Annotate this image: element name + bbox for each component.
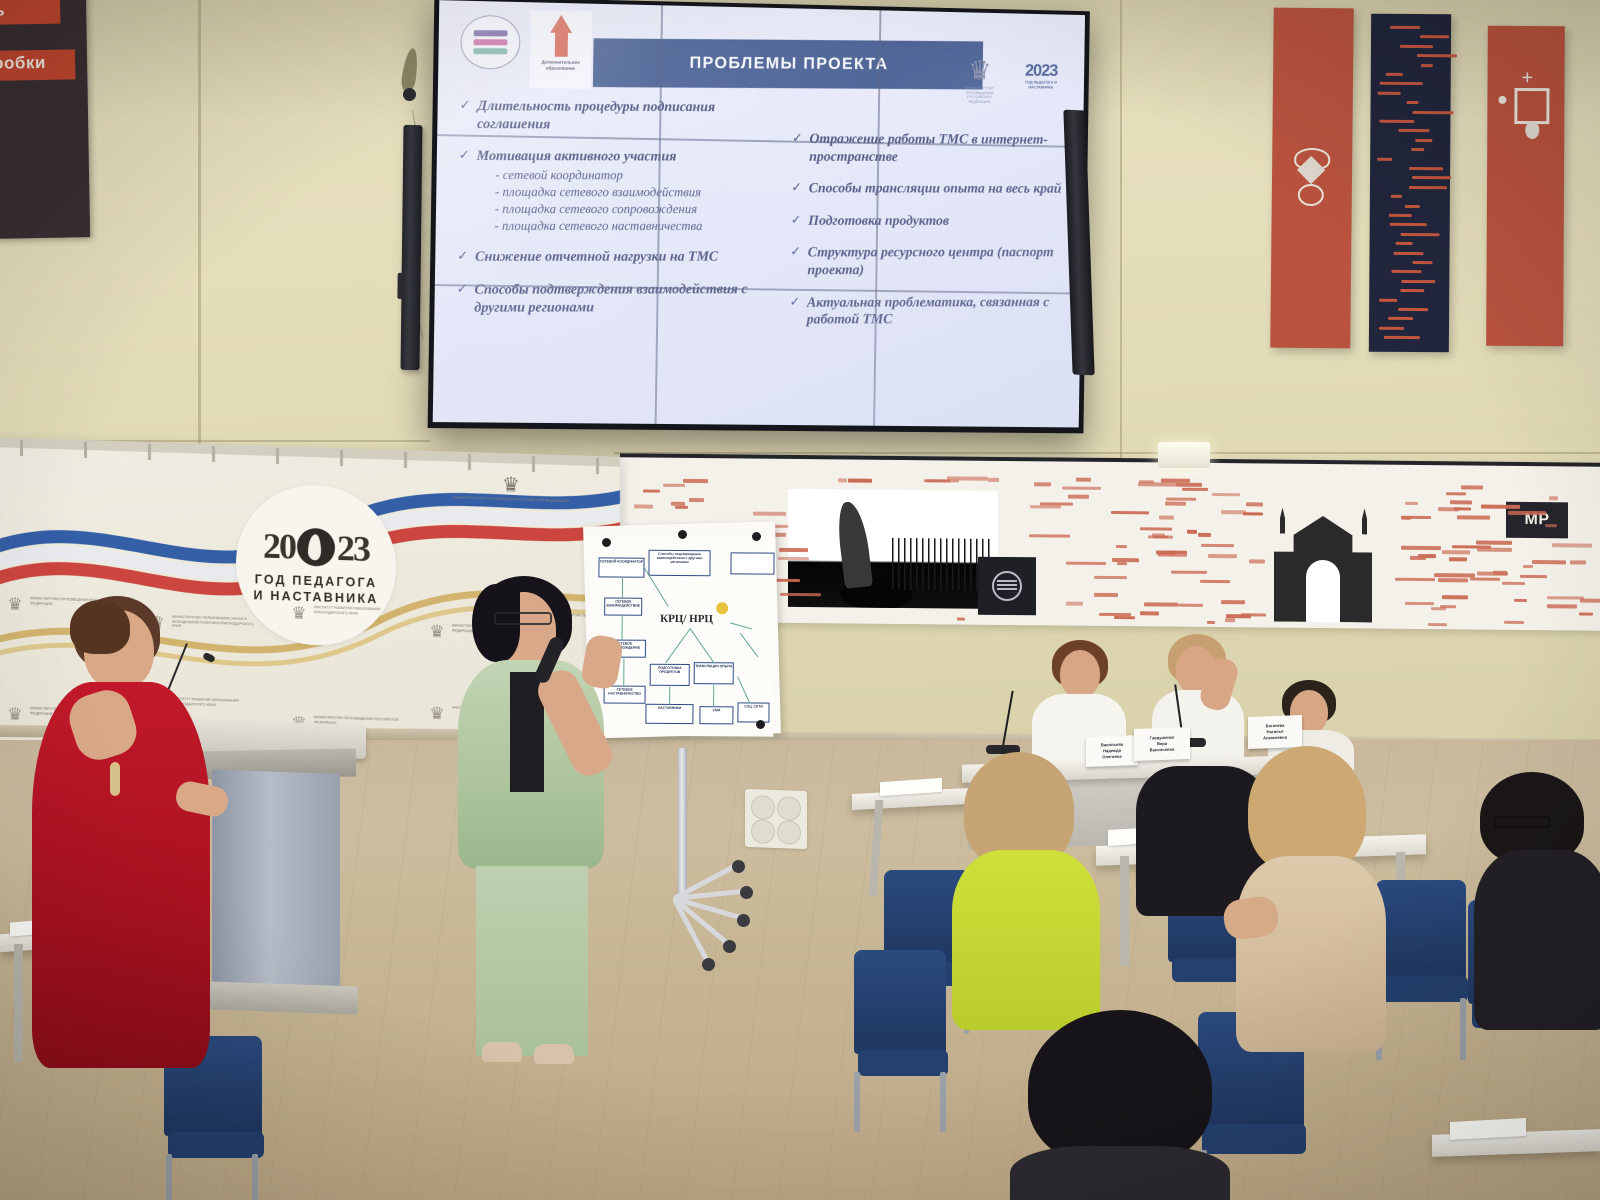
diagram-note: Способы подтверждения взаимодействия с д… bbox=[648, 550, 710, 576]
frieze-dash bbox=[1165, 502, 1186, 506]
panel-dash bbox=[1378, 327, 1403, 330]
panel-dash bbox=[1400, 233, 1440, 236]
frieze-dash bbox=[671, 502, 685, 506]
diagram-connector bbox=[740, 633, 759, 658]
diagram-note-label: Способы подтверждения взаимодействия с д… bbox=[649, 553, 709, 565]
frieze-dash bbox=[1481, 505, 1520, 509]
panel-dash bbox=[1379, 298, 1397, 301]
seal-icon: ♛ bbox=[426, 623, 448, 646]
wall-panel-cloud bbox=[1270, 8, 1354, 349]
frieze-dash bbox=[1178, 603, 1204, 607]
frieze-dash bbox=[1476, 541, 1513, 545]
frieze-dash bbox=[1450, 501, 1471, 505]
presentation-slide: Дополнительное образование ПРОБЛЕМЫ ПРОЕ… bbox=[433, 0, 1085, 427]
frieze-dash bbox=[689, 498, 704, 502]
diagram-box-label: НАСТАВНИКИ bbox=[646, 707, 692, 711]
wall-poster-top-left: ь ообки bbox=[0, 0, 90, 239]
slide-bullet-text: Способы трансляции опыта на весь край bbox=[809, 181, 1062, 199]
diagram-box: СЕТЕВОЙ КООРДИНАТОР bbox=[598, 557, 644, 577]
panel-dash bbox=[1389, 223, 1426, 226]
conference-room-scene: ь ообки + bbox=[0, 0, 1600, 1200]
slide-bullet: ✓Структура ресурсного центра (паспорт пр… bbox=[790, 245, 1080, 280]
frieze-dash bbox=[1442, 550, 1471, 554]
frieze-dash bbox=[1249, 559, 1265, 563]
panel-dash bbox=[1400, 45, 1433, 48]
frieze-dash bbox=[1477, 572, 1508, 576]
panel-dash bbox=[1409, 186, 1447, 189]
caster-wheel bbox=[740, 886, 753, 899]
panel-dash bbox=[1385, 73, 1402, 76]
diagram-connector bbox=[623, 658, 624, 686]
panel-dash bbox=[1412, 261, 1432, 264]
frieze-dash bbox=[988, 478, 999, 482]
panel-dash bbox=[1377, 157, 1392, 160]
frieze-dash bbox=[1470, 577, 1500, 581]
frieze-dash bbox=[1410, 556, 1425, 560]
slide-bullet-text: Подготовка продуктов bbox=[808, 213, 949, 230]
panel-dash bbox=[1421, 64, 1434, 67]
frieze-dash bbox=[1159, 516, 1174, 520]
emblem-year-right: 23 bbox=[337, 527, 369, 570]
slide-bullet-text: Структура ресурсного центра (паспорт про… bbox=[807, 245, 1079, 280]
table-leg bbox=[14, 944, 23, 1062]
frieze-dash bbox=[1461, 486, 1484, 490]
slide-subitem: площадка сетевого взаимодействия bbox=[495, 184, 703, 201]
flipchart-clip bbox=[602, 538, 611, 547]
frieze-dash bbox=[1449, 557, 1467, 561]
slide-subitem: площадка сетевого сопровождения bbox=[495, 201, 703, 218]
year-of-teacher-logo: 2023 ГОД ПЕДАГОГА И НАСТАВНИКА bbox=[1013, 61, 1069, 91]
podium bbox=[198, 719, 366, 1037]
wall-seam bbox=[1120, 0, 1122, 470]
panel-dash bbox=[1394, 251, 1424, 254]
wall-speaker-left bbox=[401, 125, 423, 370]
panel-dash bbox=[1409, 167, 1443, 170]
person-audience-right-dark bbox=[1474, 772, 1600, 1022]
year-number: 2023 bbox=[1013, 61, 1069, 81]
panel-dash bbox=[1396, 242, 1413, 245]
frieze-dash bbox=[1116, 545, 1127, 549]
frieze-dash bbox=[778, 556, 808, 560]
frieze-dash bbox=[1207, 620, 1216, 624]
frieze-dash bbox=[1504, 620, 1523, 624]
slide-bullet-text: Длительность процедуры подписания соглаш… bbox=[477, 98, 785, 134]
frieze-dash bbox=[753, 512, 786, 516]
frieze-dash bbox=[1431, 607, 1446, 611]
frieze-dash bbox=[1434, 573, 1475, 577]
frieze-dash bbox=[1208, 554, 1237, 558]
frieze-dash bbox=[780, 593, 821, 597]
frieze-dash bbox=[1212, 493, 1239, 497]
slide-bullet-text: Мотивация активного участия bbox=[477, 148, 704, 166]
panel-dash bbox=[1405, 205, 1420, 208]
panel-dash bbox=[1379, 82, 1423, 85]
slide-subitem: площадка сетевого наставничества bbox=[494, 217, 702, 234]
emblem-line1: ГОД ПЕДАГОГА bbox=[255, 572, 377, 590]
diagram-connector bbox=[737, 677, 750, 704]
frieze-dash bbox=[1401, 517, 1411, 521]
flipchart-clip bbox=[756, 720, 765, 729]
diagram-box-label: СМИ bbox=[700, 709, 732, 713]
frieze-dash bbox=[1201, 543, 1234, 547]
frieze-dash bbox=[1066, 561, 1106, 565]
wall-seam bbox=[198, 0, 201, 452]
checkmark-icon: ✓ bbox=[791, 213, 802, 228]
frieze-dash bbox=[1395, 577, 1435, 581]
plus-icon: + bbox=[1522, 68, 1534, 88]
frieze-dash bbox=[1066, 602, 1083, 606]
bridge-illustration bbox=[788, 489, 998, 609]
frieze-dash bbox=[1246, 502, 1263, 506]
emblem-year-left: 20 bbox=[263, 525, 295, 568]
frieze-dash bbox=[1187, 530, 1197, 534]
slide-bullet: ✓Подготовка продуктов bbox=[791, 213, 1080, 230]
panel-dash bbox=[1400, 289, 1424, 292]
flipchart-clip bbox=[752, 532, 761, 541]
panel-dash bbox=[1391, 270, 1421, 273]
panel-dash bbox=[1379, 120, 1414, 123]
eagle-icon: ♛ bbox=[451, 473, 571, 497]
frieze-dash bbox=[1114, 616, 1136, 620]
person-presenter-mint bbox=[458, 576, 608, 1006]
person-speaker-red bbox=[26, 596, 216, 1066]
frieze-dash bbox=[1442, 595, 1468, 599]
ministry-caption: МИНИСТЕРСТВО ПРОСВЕЩЕНИЯ РОССИЙСКОЙ ФЕДЕ… bbox=[957, 86, 1001, 105]
frieze-dash bbox=[1502, 581, 1524, 585]
poster-bar bbox=[0, 0, 60, 25]
slide-bullet: ✓Длительность процедуры подписания согла… bbox=[459, 98, 785, 134]
frieze-dash bbox=[957, 617, 965, 621]
ring-icon bbox=[1298, 184, 1324, 206]
chair[interactable] bbox=[854, 950, 952, 1120]
panel-dash bbox=[1398, 129, 1429, 132]
panel-dash bbox=[1401, 280, 1435, 283]
diagram-connector bbox=[622, 578, 623, 598]
pelican-icon bbox=[297, 528, 335, 567]
books-logo-icon bbox=[460, 15, 521, 69]
diagram-box-label: ПОДГОТОВКА ПРОДУКТОВ bbox=[651, 667, 689, 675]
frieze-dash bbox=[1034, 483, 1050, 487]
panel-dash bbox=[1406, 101, 1418, 104]
frieze-dash bbox=[634, 505, 653, 509]
frieze-dash bbox=[1401, 546, 1440, 550]
diagram-connector bbox=[665, 628, 690, 663]
checkmark-icon: ✓ bbox=[459, 148, 470, 163]
slide-right-column: ✓Отражение работы ТМС в интернет-простра… bbox=[789, 131, 1081, 344]
diagram-box: СОЦ. СЕТИ bbox=[737, 702, 769, 722]
panel-dash bbox=[1417, 54, 1457, 57]
diagram-highlight-dot bbox=[716, 602, 728, 614]
slide-bullet: ✓Снижение отчетной нагрузки на ТМС bbox=[457, 249, 783, 267]
frieze-dash bbox=[1158, 552, 1187, 556]
panel-dash bbox=[1389, 214, 1412, 217]
panel-dash bbox=[1412, 111, 1453, 114]
frieze-dash bbox=[1438, 508, 1459, 512]
diagram-box: ПОДГОТОВКА ПРОДУКТОВ bbox=[650, 664, 690, 686]
frieze-dash bbox=[779, 548, 808, 552]
frieze-dash bbox=[1579, 612, 1593, 616]
frieze-dash bbox=[1452, 545, 1491, 549]
frieze-dash bbox=[1523, 564, 1533, 568]
frieze-dash bbox=[1520, 575, 1546, 579]
frieze-dash bbox=[1532, 560, 1566, 564]
placard: Гавдушенко Вера Васильевна bbox=[1134, 727, 1190, 761]
diagram-box: СМИ bbox=[699, 706, 733, 724]
arch-illustration bbox=[1258, 489, 1388, 622]
caster-wheel bbox=[732, 860, 745, 873]
frieze-dash bbox=[1547, 596, 1584, 600]
frieze-dash bbox=[1198, 533, 1211, 537]
panel-dash bbox=[1420, 35, 1448, 38]
slide-subitem-list: сетевой координаторплощадка сетевого вза… bbox=[494, 167, 703, 234]
frieze-dash bbox=[675, 506, 688, 510]
flipchart-pole bbox=[678, 748, 687, 898]
frieze-dash bbox=[683, 479, 708, 483]
dot-icon bbox=[1498, 96, 1506, 104]
frieze-dash bbox=[643, 489, 660, 493]
diagram-box-label: СЕТЕВОЕ ВЗАИМОДЕЙСТВИЕ bbox=[605, 600, 641, 608]
contest-logo-icon: Дополнительное образование bbox=[529, 11, 592, 89]
frieze-dash bbox=[1225, 619, 1234, 623]
slide-bullet-text: Снижение отчетной нагрузки на ТМС bbox=[475, 249, 718, 267]
checkmark-icon: ✓ bbox=[459, 98, 470, 113]
video-wall-display[interactable]: Дополнительное образование ПРОБЛЕМЫ ПРОЕ… bbox=[428, 0, 1090, 433]
person-audience-beige bbox=[1230, 746, 1390, 1046]
seal-icon: ♛ bbox=[288, 604, 310, 627]
table-leg bbox=[1120, 856, 1129, 966]
frieze-dash bbox=[1428, 623, 1448, 627]
frieze-dash bbox=[1405, 502, 1419, 506]
frieze-dash bbox=[1117, 562, 1127, 566]
panel-dash bbox=[1390, 26, 1420, 29]
flipchart-diagram: КРЦ/ НРЦ СЕТЕВОЙ КООРДИНАТОРСЕТЕВОЕ ВЗАИ… bbox=[589, 535, 774, 736]
person-audience-green bbox=[952, 752, 1100, 1020]
diagram-connector bbox=[621, 616, 622, 640]
slide-subitem: сетевой координатор bbox=[495, 167, 703, 184]
poster-text-line1: ь bbox=[0, 1, 5, 21]
slide-bullet: ✓Отражение работы ТМС в интернет-простра… bbox=[792, 131, 1082, 166]
spear-wall-ornament bbox=[399, 48, 421, 114]
slide-bullet: ✓Мотивация активного участиясетевой коор… bbox=[458, 148, 785, 234]
banner-ministry-logo: ♛ МИНИСТЕРСТВО ПРОСВЕЩЕНИЯ РОССИЙСКОЙ ФЕ… bbox=[451, 473, 571, 504]
frieze-dash bbox=[1200, 579, 1231, 583]
checkmark-icon: ✓ bbox=[791, 181, 802, 196]
ceiling-light bbox=[1158, 442, 1210, 468]
frieze-dash bbox=[1166, 497, 1195, 501]
slide-title-bar: ПРОБЛЕМЫ ПРОЕКТА bbox=[593, 38, 983, 89]
slide-bullet: ✓Способы трансляции опыта на весь край bbox=[791, 181, 1080, 199]
diagram-box: ТРАНСЛЯЦИЯ ОПЫТА bbox=[694, 662, 734, 684]
flipchart: КРЦ/ НРЦ СЕТЕВОЙ КООРДИНАТОРСЕТЕВОЕ ВЗАИ… bbox=[586, 524, 778, 984]
slide-bullet-text: Отражение работы ТМС в интернет-простран… bbox=[809, 131, 1081, 166]
caster-wheel bbox=[723, 940, 736, 953]
panel-dash bbox=[1384, 336, 1420, 339]
frieze-dash bbox=[1140, 527, 1171, 531]
slide-bullet-text: Актуальная проблематика, связанная с раб… bbox=[807, 294, 1079, 329]
frieze-dash bbox=[1243, 512, 1263, 516]
panel-dash bbox=[1391, 195, 1402, 198]
placard: Богачева Наталья Алексеевна bbox=[1248, 715, 1302, 749]
frieze-dash bbox=[663, 483, 685, 487]
checkmark-icon: ✓ bbox=[789, 295, 800, 310]
panel-dash bbox=[1388, 317, 1413, 320]
diagram-box: СЕТЕВОЕ НАСТАВНИЧЕСТВО bbox=[604, 685, 646, 703]
frieze-dash bbox=[1570, 561, 1587, 565]
frieze-dash bbox=[1514, 598, 1528, 602]
panel-dash bbox=[1398, 308, 1428, 311]
frieze-dash bbox=[848, 479, 872, 483]
slide-left-column: ✓Длительность процедуры подписания согла… bbox=[456, 98, 785, 332]
frieze-dash bbox=[1068, 495, 1089, 499]
diagram-box: НАСТАВНИКИ bbox=[645, 704, 693, 724]
diagram-box-label: СЕТЕВОЙ КООРДИНАТОР bbox=[599, 560, 643, 564]
frieze-dash bbox=[1552, 543, 1593, 547]
frieze-dash bbox=[838, 479, 847, 483]
frieze-dash bbox=[1094, 593, 1118, 597]
diagram-box bbox=[730, 552, 774, 574]
diagram-connector bbox=[690, 628, 715, 663]
contest-logo-caption: Дополнительное образование bbox=[530, 60, 592, 72]
frieze-dash bbox=[1171, 570, 1207, 574]
ministry-eagle-icon: ♛ МИНИСТЕРСТВО ПРОСВЕЩЕНИЯ РОССИЙСКОЙ ФЕ… bbox=[957, 58, 1002, 105]
diagram-box-label: ТРАНСЛЯЦИЯ ОПЫТА bbox=[695, 665, 733, 669]
seal-caption: ИНСТИТУТ РАЗВИТИЯ ОБРАЗОВАНИЯ КРАСНОДАРС… bbox=[314, 605, 404, 617]
emblem-mark: 20 23 bbox=[263, 525, 369, 570]
checkmark-icon: ✓ bbox=[457, 249, 468, 264]
frieze-dash bbox=[1438, 578, 1468, 582]
frieze-dash bbox=[1221, 600, 1245, 604]
person-audience-front bbox=[1010, 1010, 1230, 1200]
panel-dash bbox=[1412, 148, 1424, 151]
frieze-dash bbox=[1148, 535, 1173, 539]
frieze-dash bbox=[1111, 511, 1149, 515]
diagram-connector bbox=[669, 687, 670, 705]
caster-wheel bbox=[702, 958, 715, 971]
flipchart-legs bbox=[604, 892, 764, 926]
slide-screen: Дополнительное образование ПРОБЛЕМЫ ПРОЕ… bbox=[433, 0, 1085, 427]
frieze-dash bbox=[1457, 516, 1490, 520]
checkmark-icon: ✓ bbox=[792, 131, 803, 146]
diagram-connector bbox=[730, 622, 752, 629]
diagram-box-label: СОЦ. СЕТИ bbox=[738, 705, 768, 709]
frieze-dash bbox=[1144, 603, 1178, 607]
frieze-dash bbox=[1508, 511, 1546, 515]
wall-panel-square: + bbox=[1486, 26, 1565, 346]
caster-wheel bbox=[737, 914, 750, 927]
panel-dash bbox=[1412, 176, 1451, 179]
frieze-dash bbox=[1138, 483, 1176, 487]
banner-seal: ♛ИНСТИТУТ РАЗВИТИЯ ОБРАЗОВАНИЯ КРАСНОДАР… bbox=[288, 604, 404, 630]
frieze-badge-icon bbox=[978, 557, 1036, 616]
diagram-box: СЕТЕВОЕ ВЗАИМОДЕЙСТВИЕ bbox=[604, 597, 642, 615]
frieze-dash bbox=[1062, 486, 1101, 490]
frieze-dash bbox=[1140, 611, 1160, 615]
square-icon bbox=[1514, 88, 1549, 124]
frieze-dash bbox=[1226, 614, 1252, 618]
frieze-dash bbox=[1182, 487, 1208, 491]
chair[interactable] bbox=[1376, 880, 1472, 1050]
frieze-dash bbox=[1426, 554, 1436, 558]
diagram-box-label: СЕТЕВОЕ НАСТАВНИЧЕСТВО bbox=[605, 688, 645, 696]
poster-text-line2: ообки bbox=[0, 53, 46, 74]
frieze-dash bbox=[1446, 492, 1466, 496]
wall-panel-dashes bbox=[1369, 14, 1451, 353]
frieze-dash bbox=[1076, 478, 1091, 482]
frieze-dash bbox=[924, 479, 950, 483]
panel-dash bbox=[1416, 139, 1433, 142]
diagram-connector bbox=[713, 685, 714, 707]
frieze-dash bbox=[1547, 604, 1577, 608]
frieze-dash bbox=[1549, 497, 1558, 501]
slide-bullet: ✓Актуальная проблематика, связанная с ра… bbox=[789, 294, 1079, 329]
slide-title-text: ПРОБЛЕМЫ ПРОЕКТА bbox=[689, 54, 888, 74]
oval-icon bbox=[1525, 121, 1539, 139]
diagram-center-label: КРЦ/ НРЦ bbox=[660, 614, 713, 625]
checkmark-icon: ✓ bbox=[790, 245, 801, 260]
panel-dash bbox=[1378, 92, 1401, 95]
seal-icon: ♛ bbox=[4, 595, 26, 618]
flipchart-clip bbox=[678, 530, 687, 539]
frieze-dash bbox=[1176, 483, 1202, 487]
frieze-dash bbox=[1029, 534, 1070, 538]
frieze-dash bbox=[1094, 575, 1127, 579]
frieze-dash bbox=[1405, 601, 1434, 605]
year-caption: ГОД ПЕДАГОГА И НАСТАВНИКА bbox=[1013, 80, 1069, 90]
seal-icon: ♛ bbox=[426, 705, 448, 728]
